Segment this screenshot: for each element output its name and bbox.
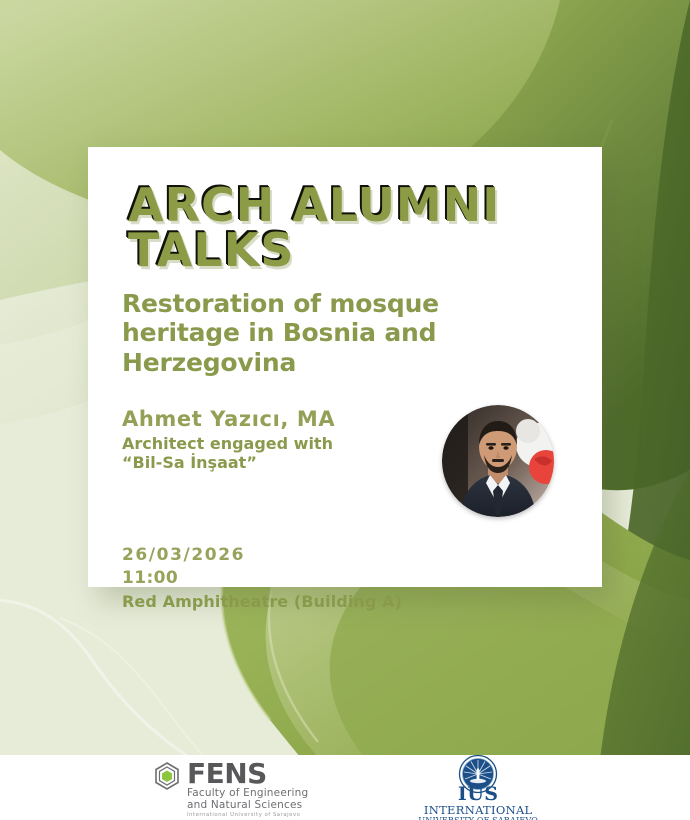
fens-subtitle: Faculty of Engineering and Natural Scien… xyxy=(187,788,308,812)
footer-logos: FENS Faculty of Engineering and Natural … xyxy=(0,755,690,820)
event-time: 11:00 xyxy=(122,568,582,588)
talk-subtitle: Restoration of mosque heritage in Bosnia… xyxy=(122,289,582,377)
page-title: ARCH ALUMNI TALKS xyxy=(122,183,582,273)
hexagon-icon xyxy=(152,761,182,791)
avatar xyxy=(442,405,554,517)
card-content: ARCH ALUMNI TALKS Restoration of mosque … xyxy=(122,183,582,611)
event-date: 26/03/2026 xyxy=(122,545,582,565)
fens-text-column: FENS Faculty of Engineering and Natural … xyxy=(187,761,308,819)
poster-canvas: ARCH ALUMNI TALKS Restoration of mosque … xyxy=(0,0,690,820)
fens-tagline: International University of Sarajevo xyxy=(187,813,308,818)
content-card: ARCH ALUMNI TALKS Restoration of mosque … xyxy=(88,147,602,587)
event-details: 26/03/2026 11:00 Red Amphitheatre (Build… xyxy=(122,545,582,611)
fens-wordmark: FENS xyxy=(187,761,308,787)
event-venue: Red Amphitheatre (Building A) xyxy=(122,592,582,611)
footer-bar: FENS Faculty of Engineering and Natural … xyxy=(0,755,690,820)
ius-line-international: INTERNATIONAL xyxy=(424,805,533,817)
fens-logo: FENS Faculty of Engineering and Natural … xyxy=(152,761,308,819)
speaker-block: Ahmet Yazıcı, MA Architect engaged with … xyxy=(122,407,582,519)
speaker-portrait-image xyxy=(442,405,554,517)
ius-wordmark: IUS xyxy=(458,785,499,804)
ius-logo: IUS INTERNATIONAL UNIVERSITY OF SARAJEVO xyxy=(418,754,538,820)
